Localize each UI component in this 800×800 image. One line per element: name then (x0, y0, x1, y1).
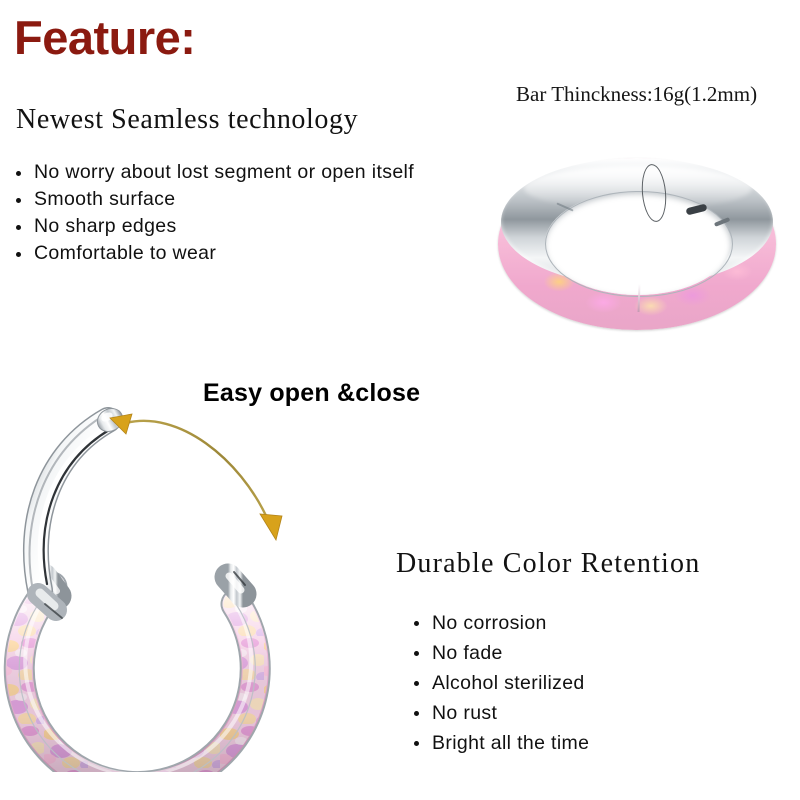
motion-arrow-svg (100, 390, 300, 550)
page-title: Feature: (14, 14, 195, 61)
bullet-dot-icon (16, 252, 21, 257)
list-item: No worry about lost segment or open itse… (12, 159, 414, 186)
arrowhead-start (110, 414, 132, 434)
feature-bullet-list: No worry about lost segment or open itse… (12, 159, 414, 267)
list-item-label: No fade (432, 642, 503, 664)
list-item-label: Bright all the time (432, 732, 589, 754)
bullet-dot-icon (414, 621, 419, 626)
list-item: Comfortable to wear (12, 240, 414, 267)
bullet-dot-icon (16, 198, 21, 203)
list-item-label: No rust (432, 702, 497, 724)
bar-thickness-label: Bar Thinckness:16g(1.2mm) (516, 82, 757, 107)
list-item: Alcohol sterilized (410, 668, 589, 698)
list-item-label: No worry about lost segment or open itse… (34, 161, 414, 183)
retention-bullet-list: No corrosion No fade Alcohol sterilized … (410, 608, 589, 758)
list-item: No corrosion (410, 608, 589, 638)
list-item-label: Alcohol sterilized (432, 672, 585, 694)
list-item-label: No corrosion (432, 612, 547, 634)
bullet-dot-icon (414, 741, 419, 746)
list-item-label: No sharp edges (34, 215, 177, 237)
list-item-label: Comfortable to wear (34, 242, 216, 264)
ring-open-end-tip (228, 572, 245, 594)
list-item: Smooth surface (12, 186, 414, 213)
list-item: Bright all the time (410, 728, 589, 758)
list-item-label: Smooth surface (34, 188, 175, 210)
list-item: No sharp edges (12, 213, 414, 240)
list-item: No fade (410, 638, 589, 668)
bullet-dot-icon (16, 171, 21, 176)
arrowhead-end (260, 514, 282, 540)
durable-color-retention-heading: Durable Color Retention (396, 548, 700, 580)
infographic-canvas: Feature: Newest Seamless technology No w… (0, 0, 800, 800)
list-item: No rust (410, 698, 589, 728)
bullet-dot-icon (414, 711, 419, 716)
seamless-heading: Newest Seamless technology (16, 104, 358, 136)
arrow-curve (126, 421, 268, 520)
product-image-top-ring (498, 158, 776, 330)
bullet-dot-icon (16, 225, 21, 230)
bullet-dot-icon (414, 681, 419, 686)
open-close-motion-arrow (100, 390, 300, 550)
bullet-dot-icon (414, 651, 419, 656)
